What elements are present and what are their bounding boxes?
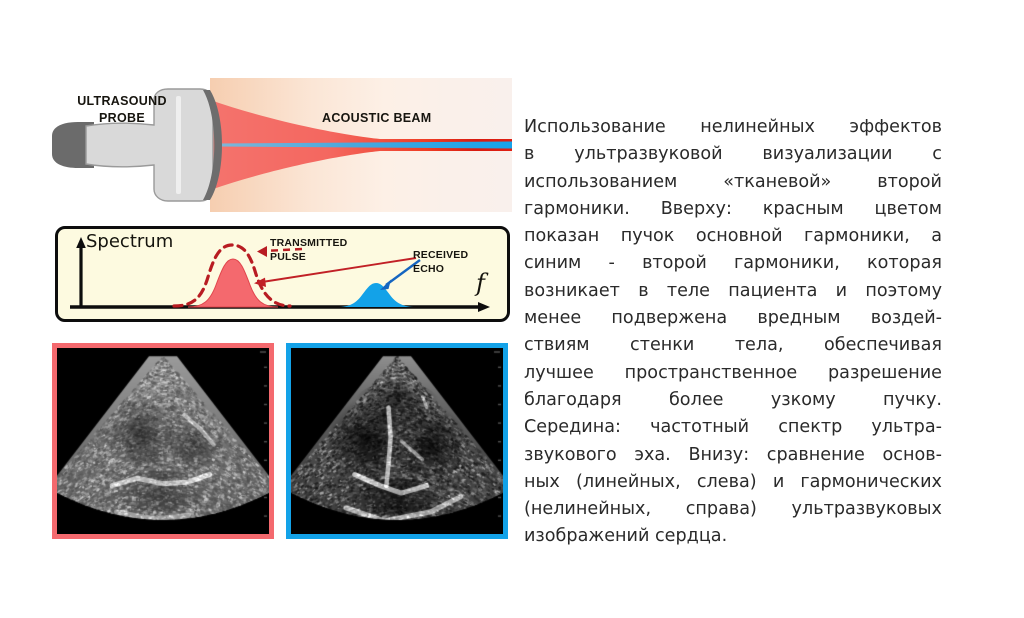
ultrasound-probe-label: ULTRASOUND PROBE [62, 93, 182, 127]
frequency-axis-label: f [476, 269, 485, 297]
spectrum-axis-label: Spectrum [86, 231, 173, 252]
harmonic-echocardiogram-frame [286, 343, 508, 539]
x-axis-arrowhead [478, 302, 490, 312]
caption-line: использованием«тканевой»второй [524, 169, 942, 196]
received-label-line2: ECHO [413, 263, 444, 275]
transmitted-arrowhead-1 [257, 246, 267, 257]
y-axis-arrowhead [76, 237, 86, 248]
fundamental-echocardiogram-image [57, 348, 269, 534]
received-label-line1: RECEIVED [413, 249, 468, 261]
figure-caption: Использованиенелинейныхэффектоввультразв… [524, 114, 942, 551]
caption-line: звуковогоэха.Внизу:сравнениеоснов- [524, 442, 942, 469]
spectrum-panel: Spectrum TRANSMITTED PULSE RECEIVED ECHO… [55, 226, 510, 322]
probe-label-line1: ULTRASOUND [77, 94, 167, 108]
caption-line: синим-второйгармоники,которая [524, 250, 942, 277]
probe-label-line2: PROBE [99, 111, 145, 125]
received-echo-peak-fill [337, 283, 416, 307]
caption-line: лучшеепространственноеразрешение [524, 360, 942, 387]
transmitted-label-line1: TRANSMITTED [270, 237, 347, 249]
fundamental-echocardiogram-frame [52, 343, 274, 539]
caption-line: благодаряболееузкомупучку. [524, 387, 942, 414]
caption-line: Середина:частотныйспектрультра- [524, 414, 942, 441]
acoustic-beam-label: ACOUSTIC BEAM [322, 111, 431, 125]
caption-line: гармоники.Вверху:краснымцветом [524, 196, 942, 223]
harmonic-echocardiogram-image [291, 348, 503, 534]
received-echo-label: RECEIVED ECHO [413, 249, 468, 276]
transmitted-pulse-label: TRANSMITTED PULSE [270, 237, 347, 264]
caption-line: ных(линейных,слева)игармонических [524, 469, 942, 496]
caption-line: (нелинейных,справа)ультразвуковых [524, 496, 942, 523]
transmitted-label-line2: PULSE [270, 251, 306, 263]
caption-line: Использованиенелинейныхэффектов [524, 114, 942, 141]
caption-line: изображений сердца. [524, 523, 942, 550]
caption-line: возникаетвтелепациентаипоэтому [524, 278, 942, 305]
caption-line: менееподверженавреднымвоздей- [524, 305, 942, 332]
caption-line: показанпучокосновнойгармоники,а [524, 223, 942, 250]
acoustic-beam-panel: ULTRASOUND PROBE ACOUSTIC BEAM [50, 78, 512, 212]
caption-line: вультразвуковойвизуализациис [524, 141, 942, 168]
caption-line: ствиямстенкитела,обеспечивая [524, 332, 942, 359]
